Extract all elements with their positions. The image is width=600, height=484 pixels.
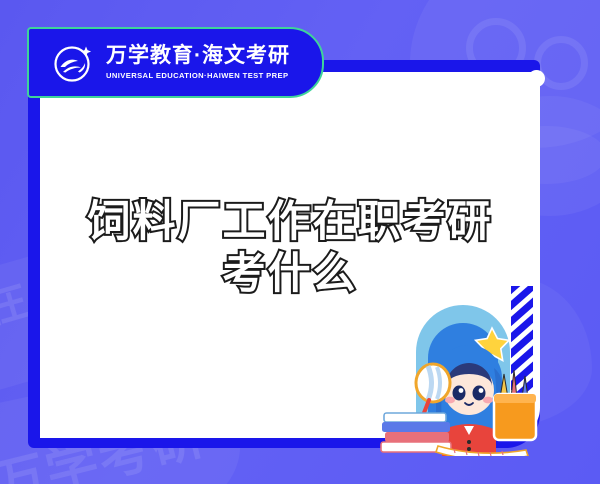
- brand-logo-text: 万学教育·海文考研 UNIVERSAL EDUCATION·HAIWEN TES…: [106, 44, 290, 80]
- haiwen-swirl-mark-icon: [51, 41, 95, 85]
- brand-name-en: UNIVERSAL EDUCATION·HAIWEN TEST PREP: [106, 71, 290, 81]
- poster-canvas: 在 万学考研 万学教育·海文考研 UNIVERSAL EDUCATION·HAI…: [0, 0, 600, 484]
- brand-name-cn: 万学教育·海文考研: [106, 44, 290, 68]
- cheek-right: [483, 397, 493, 404]
- student-mascot-illustration: [380, 286, 570, 456]
- brand-logo-badge[interactable]: 万学教育·海文考研 UNIVERSAL EDUCATION·HAIWEN TES…: [27, 27, 324, 98]
- page-title-line-1: 饲料厂工作在职考研: [60, 196, 520, 248]
- cheek-left: [445, 397, 455, 404]
- corner-dot-icon: [528, 70, 545, 87]
- eye-right: [473, 386, 486, 401]
- eye-left: [453, 386, 466, 401]
